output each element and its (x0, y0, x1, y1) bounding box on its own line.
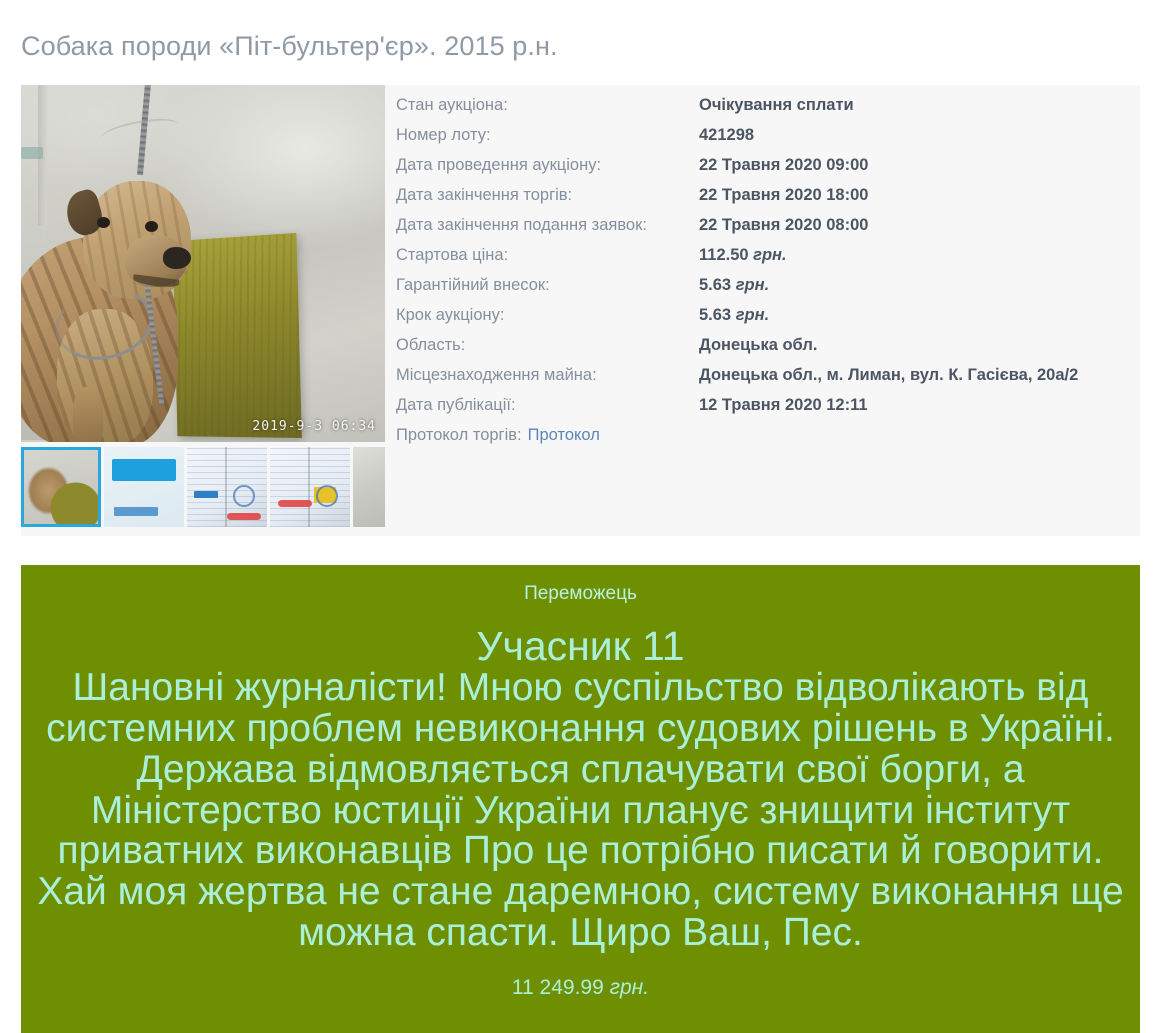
lot-info-panel: 2019-9-3 06:34 (21, 85, 1140, 536)
detail-value: Донецька обл., м. Лиман, вул. К. Гасієва… (699, 366, 1078, 385)
winner-price-amount: 11 249.99 (512, 976, 604, 999)
main-photo[interactable]: 2019-9-3 06:34 (21, 85, 385, 442)
detail-value: 5.63 грн. (699, 276, 769, 295)
detail-label: Дата закінчення торгів: (396, 186, 699, 205)
detail-row-region: Область: Донецька обл. (396, 336, 1136, 366)
detail-row-lot-number: Номер лоту: 421298 (396, 126, 1136, 156)
protocol-link[interactable]: Протокол (528, 426, 600, 445)
detail-value: Донецька обл. (699, 336, 817, 355)
passport-red-mark (227, 513, 261, 520)
detail-amount: 5.63 (699, 276, 731, 294)
dog-leg (73, 387, 103, 442)
detail-row-auction-date: Дата проведення аукціону: 22 Травня 2020… (396, 156, 1136, 186)
thumb-passport-cover[interactable] (104, 447, 184, 527)
winner-price: 11 249.99 грн. (21, 976, 1140, 1000)
passport-blue-mark (194, 491, 218, 498)
detail-label: Дата проведення аукціону: (396, 156, 699, 175)
thumb-wall-image (353, 447, 385, 527)
detail-value: 112.50 грн. (699, 246, 787, 265)
dog-eye-left (97, 217, 110, 228)
winner-caption: Переможець (21, 582, 1140, 607)
detail-row-bidding-end-date: Дата закінчення торгів: 22 Травня 2020 1… (396, 186, 1136, 216)
detail-value: 421298 (699, 126, 754, 145)
thumbnail-strip[interactable] (21, 447, 385, 530)
detail-row-applications-end-date: Дата закінчення подання заявок: 22 Травн… (396, 216, 1136, 246)
detail-label: Дата публікації: (396, 396, 699, 415)
detail-label: Стартова ціна: (396, 246, 699, 265)
thumb-passport-cover-image (104, 447, 184, 527)
detail-row-publication-date: Дата публікації: 12 Травня 2020 12:11 (396, 396, 1136, 426)
detail-amount: 112.50 (699, 246, 749, 264)
dog-nose (163, 247, 191, 269)
winner-banner: Переможець Учасник 11 Шановні журналісти… (21, 565, 1140, 1033)
lot-gallery: 2019-9-3 06:34 (21, 85, 385, 442)
currency-label: грн. (736, 306, 769, 324)
currency-label: грн. (753, 246, 786, 264)
thumb-passport-spread-2[interactable] (270, 447, 350, 527)
thumb-passport-spread-1[interactable] (187, 447, 267, 527)
detail-value: 12 Травня 2020 12:11 (699, 396, 868, 415)
dog-figure (21, 159, 206, 442)
detail-value: 22 Травня 2020 09:00 (699, 156, 868, 175)
thumb-wall-photo[interactable] (353, 447, 385, 527)
page-title: Собака породи «Піт-бультер'єр». 2015 р.н… (21, 31, 558, 62)
protocol-label: Протокол торгів: (396, 426, 522, 445)
detail-row-protocol: Протокол торгів: Протокол (396, 426, 1136, 456)
detail-row-start-price: Стартова ціна: 112.50 грн. (396, 246, 1136, 276)
detail-label: Гарантійний внесок: (396, 276, 699, 295)
detail-row-property-location: Місцезнаходження майна: Донецька обл., м… (396, 366, 1136, 396)
detail-value: 5.63 грн. (699, 306, 769, 325)
detail-value: Очікування сплати (699, 96, 854, 115)
thumb-dog-image (24, 450, 98, 524)
detail-label: Крок аукціону: (396, 306, 699, 325)
detail-label: Місцезнаходження майна: (396, 366, 699, 385)
winner-price-currency: грн. (610, 976, 649, 999)
detail-label: Стан аукціона: (396, 96, 699, 115)
photo-timestamp: 2019-9-3 06:34 (252, 419, 376, 434)
detail-label: Область: (396, 336, 699, 355)
passport-stamp (316, 485, 338, 507)
thumb-passport-spread-2-image (270, 447, 350, 527)
detail-row-auction-state: Стан аукціона: Очікування сплати (396, 96, 1136, 126)
dog-eye-right (145, 221, 158, 232)
detail-amount: 5.63 (699, 306, 731, 324)
detail-value: 22 Травня 2020 08:00 (699, 216, 868, 235)
passport-stamp (233, 485, 255, 507)
lot-details-list: Стан аукціона: Очікування сплати Номер л… (396, 96, 1136, 456)
passport-red-mark (278, 500, 312, 507)
thumb-passport-spread-1-image (187, 447, 267, 527)
detail-value: 22 Травня 2020 18:00 (699, 186, 868, 205)
detail-row-guarantee-deposit: Гарантійний внесок: 5.63 грн. (396, 276, 1136, 306)
wall-patch (21, 147, 43, 159)
winner-name: Учасник 11 (21, 625, 1140, 668)
currency-label: грн. (736, 276, 769, 294)
thumb-dog-photo[interactable] (21, 447, 101, 527)
winner-message: Шановні журналісти! Мною суспільство від… (35, 668, 1126, 955)
detail-row-auction-step: Крок аукціону: 5.63 грн. (396, 306, 1136, 336)
detail-label: Дата закінчення подання заявок: (396, 216, 699, 235)
detail-label: Номер лоту: (396, 126, 699, 145)
